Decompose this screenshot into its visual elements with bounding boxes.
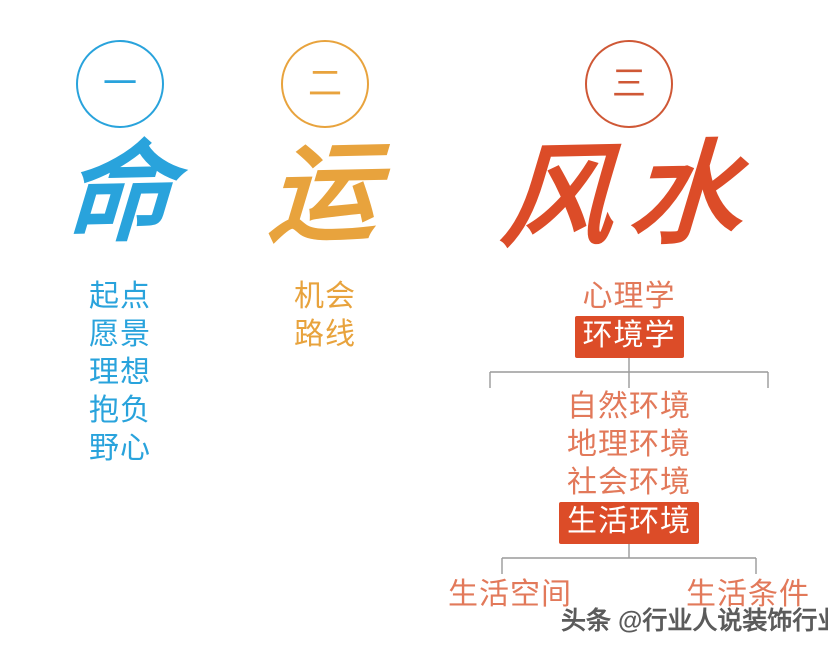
numeral-circle-two: 二 <box>281 40 369 128</box>
keyword-list-yun: 机会 路线 <box>230 278 420 354</box>
headline-glyph-ming: 命 <box>61 139 178 249</box>
column-fengshui: 三 风水 心理学 环境学 自然环境 <box>430 0 828 660</box>
list-item: 愿景 <box>20 316 220 354</box>
tree-connector-lower <box>430 544 828 574</box>
numeral-badge-wrap-three: 三 <box>430 40 828 128</box>
tree-node-psychology: 心理学 <box>583 278 676 316</box>
numeral-one-icon: 一 <box>103 67 137 101</box>
tree-node-geographic-environment: 地理环境 <box>567 426 691 464</box>
watermark: 头条 @行业人说装饰行业 <box>561 606 828 636</box>
tree-root-plain-row: 心理学 <box>430 278 828 316</box>
numeral-circle-three: 三 <box>585 40 673 128</box>
tree-node-social-environment: 社会环境 <box>567 464 691 502</box>
headline-glyph-wrap-ming: 命 <box>20 140 220 248</box>
headline-glyph-fengshui: 风水 <box>498 137 760 254</box>
tree-connector-upper <box>430 358 828 388</box>
infographic-canvas: 一 命 起点 愿景 理想 抱负 野心 二 运 机会 路线 <box>0 0 828 660</box>
list-item: 路线 <box>230 316 420 354</box>
tree-node-environmentology: 环境学 <box>575 316 684 358</box>
numeral-badge-wrap-one: 一 <box>20 40 220 128</box>
list-item: 理想 <box>20 354 220 392</box>
numeral-two-icon: 二 <box>308 67 342 101</box>
headline-glyph-yun: 运 <box>266 139 383 249</box>
headline-glyph-wrap-yun: 运 <box>230 140 420 248</box>
column-yun: 二 运 机会 路线 <box>230 0 420 660</box>
tree-branch-row: 地理环境 <box>430 426 828 464</box>
numeral-three-icon: 三 <box>612 67 646 101</box>
list-item: 机会 <box>230 278 420 316</box>
fengshui-tree: 心理学 环境学 自然环境 地理环境 社会环境 生活环境 <box>430 278 828 614</box>
column-ming: 一 命 起点 愿景 理想 抱负 野心 <box>20 0 220 660</box>
tree-node-living-environment: 生活环境 <box>559 502 699 544</box>
watermark-handle: @行业人说装饰行业 <box>618 607 828 635</box>
tree-branch-row: 自然环境 <box>430 388 828 426</box>
tree-branch-highlight-row: 生活环境 <box>430 502 828 544</box>
keyword-list-ming: 起点 愿景 理想 抱负 野心 <box>20 278 220 468</box>
headline-glyph-wrap-fengshui: 风水 <box>430 140 828 252</box>
tree-node-living-space: 生活空间 <box>448 576 572 614</box>
list-item: 抱负 <box>20 392 220 430</box>
tree-branch-row: 社会环境 <box>430 464 828 502</box>
tree-root-highlight-row: 环境学 <box>430 316 828 358</box>
numeral-circle-one: 一 <box>76 40 164 128</box>
numeral-badge-wrap-two: 二 <box>230 40 420 128</box>
tree-node-natural-environment: 自然环境 <box>567 388 691 426</box>
list-item: 起点 <box>20 278 220 316</box>
list-item: 野心 <box>20 430 220 468</box>
watermark-platform: 头条 <box>561 607 611 635</box>
